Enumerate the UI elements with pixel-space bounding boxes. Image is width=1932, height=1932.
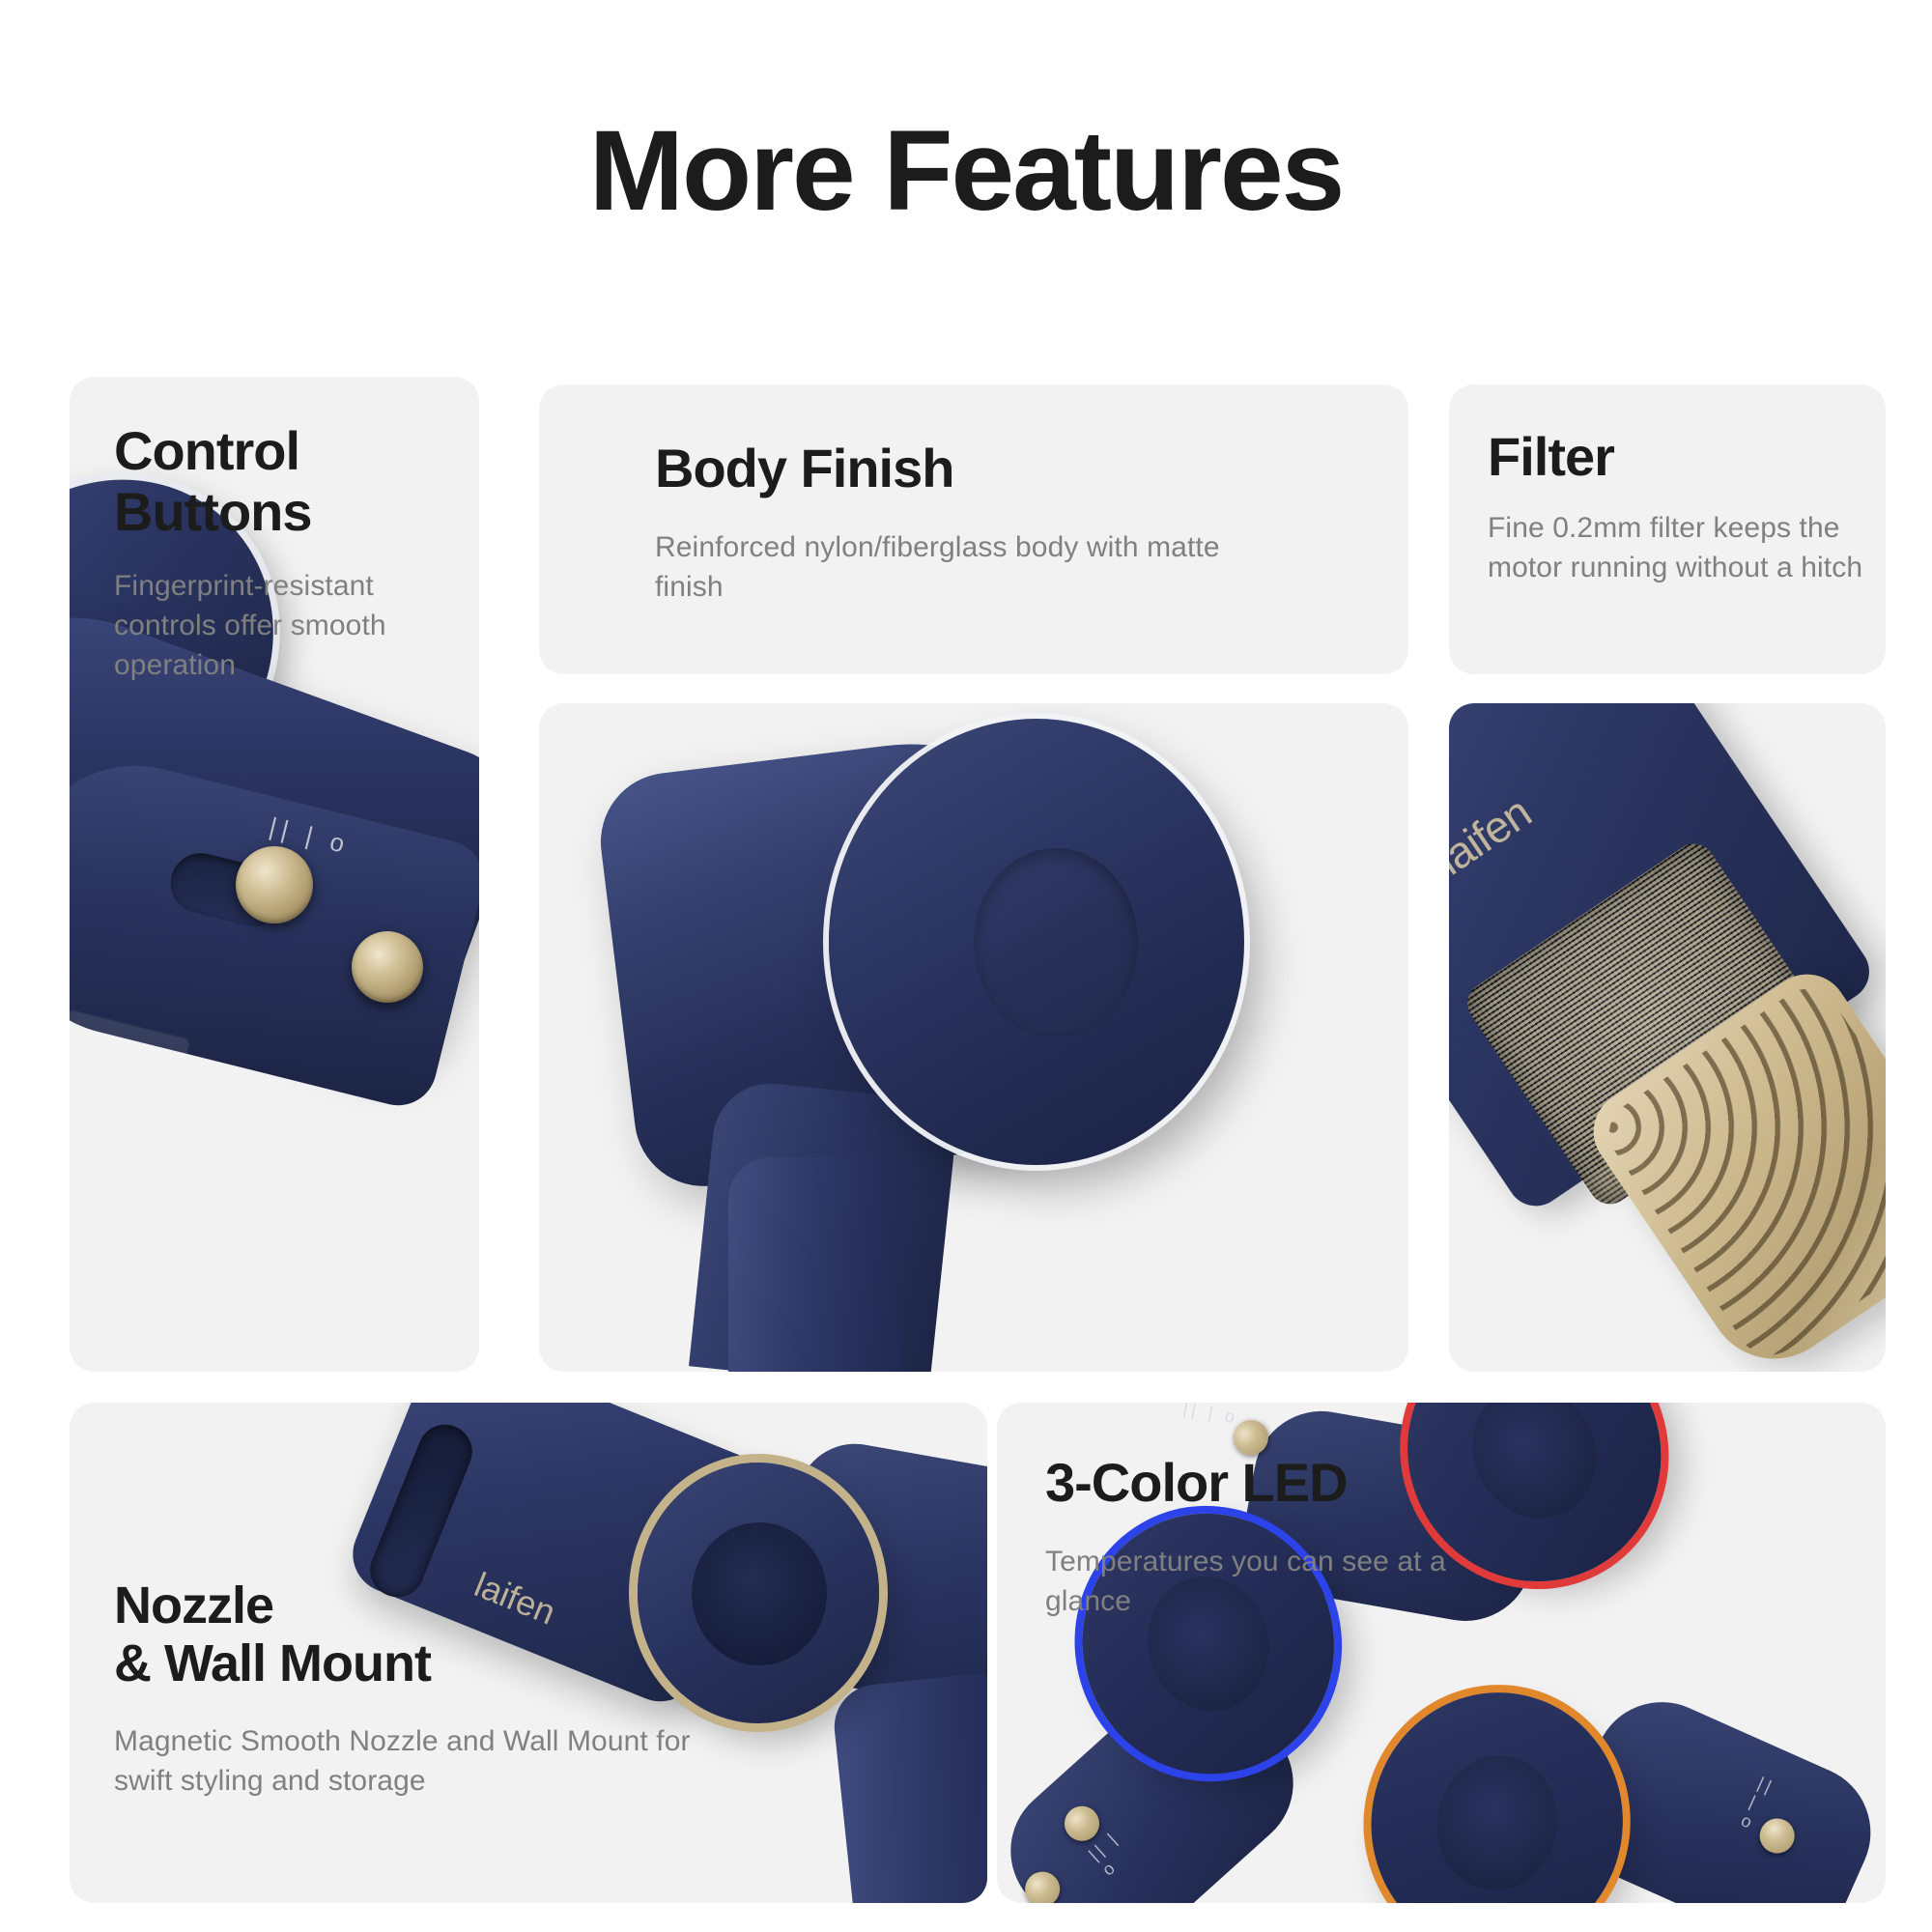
- control-buttons-heading-line2: Buttons: [114, 482, 440, 543]
- feature-card-body-finish-image: [539, 703, 1408, 1372]
- feature-card-filter-image: laifen: [1449, 703, 1886, 1372]
- power-button-icon: [1061, 1803, 1103, 1845]
- dryer-air-outlet-shape: [974, 848, 1138, 1037]
- filter-perforations: [1597, 977, 1886, 1368]
- dryer-arm-shape: [997, 1652, 1321, 1903]
- nozzle-description: Magnetic Smooth Nozzle and Wall Mount fo…: [114, 1722, 713, 1802]
- laifen-brand-logo: laifen: [1449, 786, 1540, 886]
- body-finish-product-illustration: [539, 703, 1408, 1372]
- body-finish-heading: Body Finish: [655, 439, 1408, 499]
- filter-text-block: Filter Fine 0.2mm filter keeps the motor…: [1449, 384, 1886, 587]
- dryer-arm-shape: [1552, 1681, 1886, 1903]
- led-description: Temperatures you can see at a glance: [1045, 1543, 1470, 1622]
- feature-card-nozzle-wall-mount: laifen Nozzle & Wall Mount Magnetic Smoo…: [70, 1403, 987, 1903]
- feature-page: More Features || | o Control Buttons Fin…: [0, 0, 1932, 1932]
- dryer-handle-shape: [70, 741, 479, 1113]
- feature-card-control-buttons: || | o Control Buttons Fingerprint-resis…: [70, 377, 479, 1372]
- control-buttons-text-block: Control Buttons Fingerprint-resistant co…: [70, 377, 479, 686]
- nozzle-text-block: Nozzle & Wall Mount Magnetic Smooth Nozz…: [70, 1403, 987, 1802]
- filter-description: Fine 0.2mm filter keeps the motor runnin…: [1488, 509, 1864, 588]
- dryer-body-shape: [1449, 703, 1881, 1217]
- feature-card-three-color-led: || | o || | o || | o 3-Color LED Tempera…: [997, 1403, 1886, 1903]
- body-finish-text-block: Body Finish Reinforced nylon/fiberglass …: [539, 384, 1408, 607]
- control-slot-shape: [164, 847, 289, 933]
- page-title: More Features: [0, 114, 1932, 228]
- nozzle-heading-line2: & Wall Mount: [114, 1634, 987, 1692]
- feature-card-body-finish-text: Body Finish Reinforced nylon/fiberglass …: [539, 384, 1408, 674]
- dryer-stem-shape: [728, 1157, 902, 1372]
- control-markings-label: || | o: [1085, 1826, 1139, 1881]
- control-markings-label: || | o: [267, 811, 354, 861]
- nozzle-heading: Nozzle & Wall Mount: [114, 1577, 987, 1693]
- feature-card-filter-text: Filter Fine 0.2mm filter keeps the motor…: [1449, 384, 1886, 674]
- control-markings-label: || | o: [1738, 1774, 1777, 1836]
- rating-label-decal: [70, 1009, 190, 1077]
- control-buttons-heading-line1: Control: [114, 421, 440, 482]
- filter-product-illustration: laifen: [1449, 703, 1886, 1372]
- power-button-icon: [1757, 1816, 1798, 1857]
- control-buttons-description: Fingerprint-resistant controls offer smo…: [114, 567, 452, 685]
- dryer-barrel-shape: [593, 721, 1143, 1194]
- body-finish-description: Reinforced nylon/fiberglass body with ma…: [655, 528, 1273, 608]
- filter-heading: Filter: [1488, 427, 1851, 488]
- led-text-block: 3-Color LED Temperatures you can see at …: [997, 1403, 1886, 1621]
- temperature-button-icon: [1021, 1868, 1064, 1903]
- filter-mesh-shape: [1460, 836, 1845, 1212]
- dryer-neck-shape: [689, 1078, 959, 1372]
- nozzle-heading-line1: Nozzle: [114, 1577, 987, 1634]
- led-heading: 3-Color LED: [1045, 1453, 1886, 1514]
- led-ring-orange: [1350, 1672, 1643, 1903]
- temperature-button-icon: [352, 931, 423, 1003]
- dryer-front-face-shape: [829, 719, 1244, 1165]
- power-button-icon: [236, 846, 313, 923]
- control-buttons-heading: Control Buttons: [114, 421, 440, 542]
- filter-cap-shape: [1577, 958, 1886, 1372]
